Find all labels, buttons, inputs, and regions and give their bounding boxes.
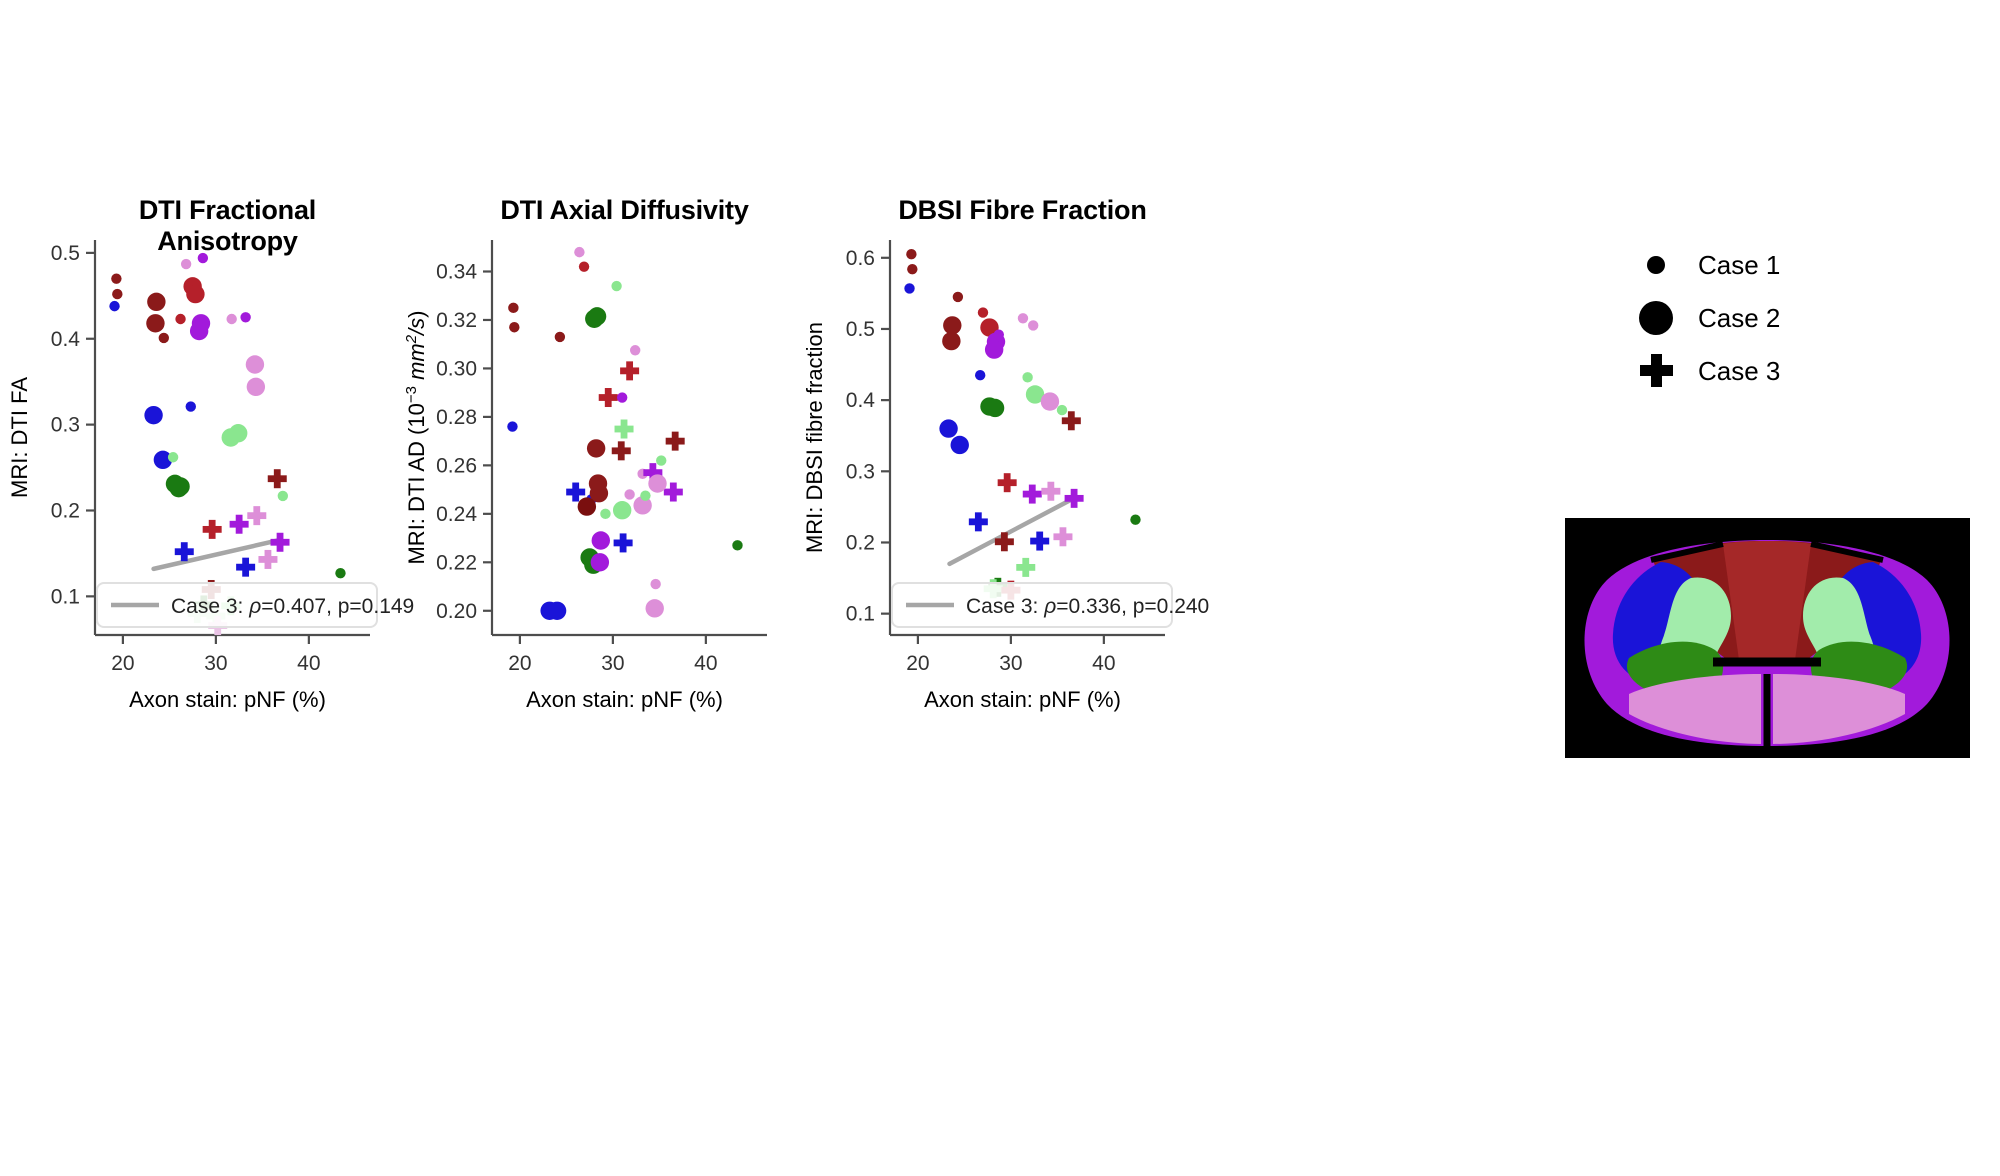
y-axis-title-0: MRI: DTI FA bbox=[7, 377, 32, 498]
case-3-marker-icon bbox=[1640, 354, 1673, 387]
case-2-marker-icon bbox=[1639, 301, 1673, 335]
y-tick-label-1-6: 0.32 bbox=[436, 309, 477, 332]
panel-title-1: DTI Axial Diffusivity bbox=[472, 195, 777, 226]
spinal-cord-svg bbox=[1565, 518, 1970, 758]
panel-dti-fa: DTI Fractional Anisotropy bbox=[75, 195, 380, 715]
panel-title-2: DBSI Fibre Fraction bbox=[870, 195, 1175, 226]
case-legend-svg: Case 1 Case 2 Case 3 bbox=[1630, 238, 1890, 423]
case-3-label: Case 3 bbox=[1698, 356, 1780, 386]
y-tick-label-1-3: 0.26 bbox=[436, 454, 477, 477]
case-1-marker-icon bbox=[1647, 256, 1665, 274]
y-axis-title-2: MRI: DBSI fibre fraction bbox=[802, 322, 827, 553]
y-tick-label-1-1: 0.22 bbox=[436, 551, 477, 574]
panel-dti-ad: DTI Axial Diffusivity bbox=[472, 195, 777, 715]
panel-dbsi-ff: DBSI Fibre Fraction bbox=[870, 195, 1175, 715]
y-axis-title-1: MRI: DTI AD (10−3 mm2/s) bbox=[403, 310, 430, 564]
y-tick-label-1-0: 0.20 bbox=[436, 600, 477, 623]
spinal-cord-roi-map bbox=[1565, 518, 1970, 758]
figure-root: DTI Fractional Anisotropy DTI Axial Diff… bbox=[0, 0, 2000, 1176]
y-tick-label-1-4: 0.28 bbox=[436, 406, 477, 429]
panel-title-0: DTI Fractional Anisotropy bbox=[75, 195, 380, 257]
case-2-label: Case 2 bbox=[1698, 303, 1780, 333]
y-tick-label-1-5: 0.30 bbox=[436, 357, 477, 380]
case-legend: Case 1 Case 2 Case 3 bbox=[1630, 238, 1890, 418]
case-1-label: Case 1 bbox=[1698, 250, 1780, 280]
